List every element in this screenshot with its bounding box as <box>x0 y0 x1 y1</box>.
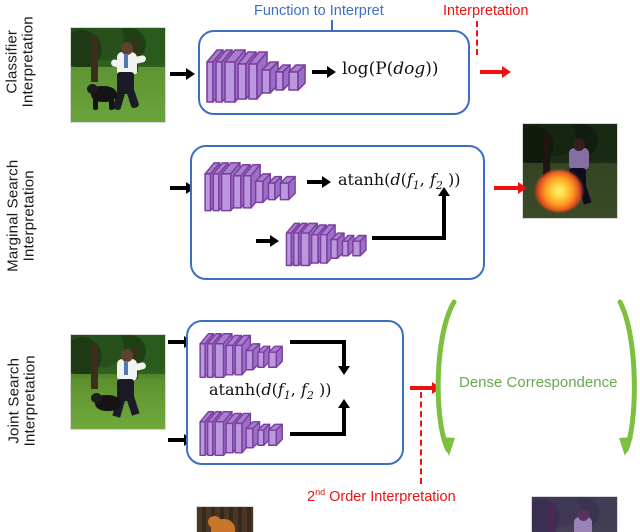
row2-input-photo <box>70 334 166 430</box>
row3-elbow-top-arrow-head <box>338 366 350 375</box>
row2-elbow-horizontal <box>372 236 446 240</box>
second-order-prefix: 2 <box>307 489 315 505</box>
row2-arrow-network-to-formula <box>307 180 322 184</box>
row1-arrow-input-to-network-head <box>186 68 195 80</box>
row3-formula-f2-sub: 2 <box>307 389 314 402</box>
row3-cnn-network-top-icon <box>190 322 294 384</box>
second-order-rest: Order Interpretation <box>325 489 456 505</box>
row3-cnn-network-bottom-icon <box>190 400 294 462</box>
row2-label-line1: Marginal Search <box>5 151 21 281</box>
row3-elbow-bottom-horizontal <box>290 432 346 436</box>
row-label-joint-search-interpretation: Joint Search Interpretation <box>6 343 38 459</box>
row3-formula-dist: d <box>261 380 271 399</box>
row3-red-arrow <box>410 386 432 390</box>
row2-cnn-network-bottom-icon <box>279 212 375 272</box>
row2-formula-f1-sub: 1 <box>413 179 420 192</box>
row3-label-line2: Interpretation <box>22 343 38 459</box>
dense-correspondence-label: Dense Correspondence <box>459 374 617 391</box>
row2-arrow-input-to-network <box>170 186 186 190</box>
row1-arrow-input-to-network <box>170 72 186 76</box>
row-label-marginal-search-interpretation: Marginal Search Interpretation <box>5 151 37 281</box>
row1-label-line2: Interpretation <box>20 12 36 112</box>
row-label-classifier-interpretation: Classifier Interpretation <box>4 12 36 112</box>
row2-red-arrow <box>494 186 518 190</box>
row2-cnn-network-top-icon <box>198 150 304 218</box>
row3-arrow-input1-to-network <box>168 340 184 344</box>
row2-label-line2: Interpretation <box>21 151 37 281</box>
row3-elbow-top-horizontal <box>290 340 346 344</box>
row2-output-heatmap <box>531 496 618 532</box>
row2-arrow-reference-to-network <box>256 239 270 243</box>
row3-label-line1: Joint Search <box>6 343 22 459</box>
row1-formula-fn: log <box>342 59 369 79</box>
row1-output-heatmap <box>522 123 618 219</box>
function-to-interpret-label: Function to Interpret <box>254 3 384 19</box>
row3-elbow-bottom-arrow-head <box>338 399 350 408</box>
row3-elbow-top-vertical <box>342 340 346 366</box>
row3-elbow-bottom-vertical <box>342 408 346 436</box>
row2-elbow-vertical <box>442 196 446 240</box>
row3-formula-fn: atanh <box>209 380 255 399</box>
row3-formula: atanh(d(f1, f2 )) <box>209 380 331 402</box>
second-order-dashed-connector <box>420 392 422 484</box>
row3-arrow-input2-to-network <box>168 438 184 442</box>
row2-elbow-arrow-head <box>438 187 450 196</box>
row1-red-arrow-head <box>502 66 511 78</box>
interpretation-label: Interpretation <box>443 3 528 19</box>
row2-arrow-reference-to-network-head <box>270 235 279 247</box>
row2-formula-fn: atanh <box>338 170 384 189</box>
row1-arrow-network-to-formula <box>312 70 327 74</box>
row1-arrow-network-to-formula-head <box>327 66 336 78</box>
row2-formula-dist: d <box>390 170 400 189</box>
dense-correspondence-arc-right <box>616 296 640 468</box>
row1-formula-prob: P <box>375 59 386 79</box>
interpretation-dashed-connector <box>476 21 478 55</box>
row1-formula-arg: dog <box>393 59 425 79</box>
row2-red-arrow-head <box>518 182 527 194</box>
row1-red-arrow <box>480 70 502 74</box>
figure-root: Function to Interpret Interpretation Cla… <box>0 0 640 532</box>
row1-label-line1: Classifier <box>4 12 20 112</box>
dense-correspondence-arc-left <box>432 296 460 468</box>
second-order-interpretation-label: 2nd Order Interpretation <box>307 487 456 505</box>
row1-cnn-network-icon <box>204 36 310 110</box>
row2-arrow-network-to-formula-head <box>322 176 331 188</box>
row1-input-photo <box>70 27 166 123</box>
row3-formula-f1-sub: 1 <box>284 389 291 402</box>
row2-reference-photo <box>196 506 254 532</box>
second-order-sup: nd <box>315 487 325 497</box>
row1-formula: log(P(dog)) <box>342 59 439 79</box>
